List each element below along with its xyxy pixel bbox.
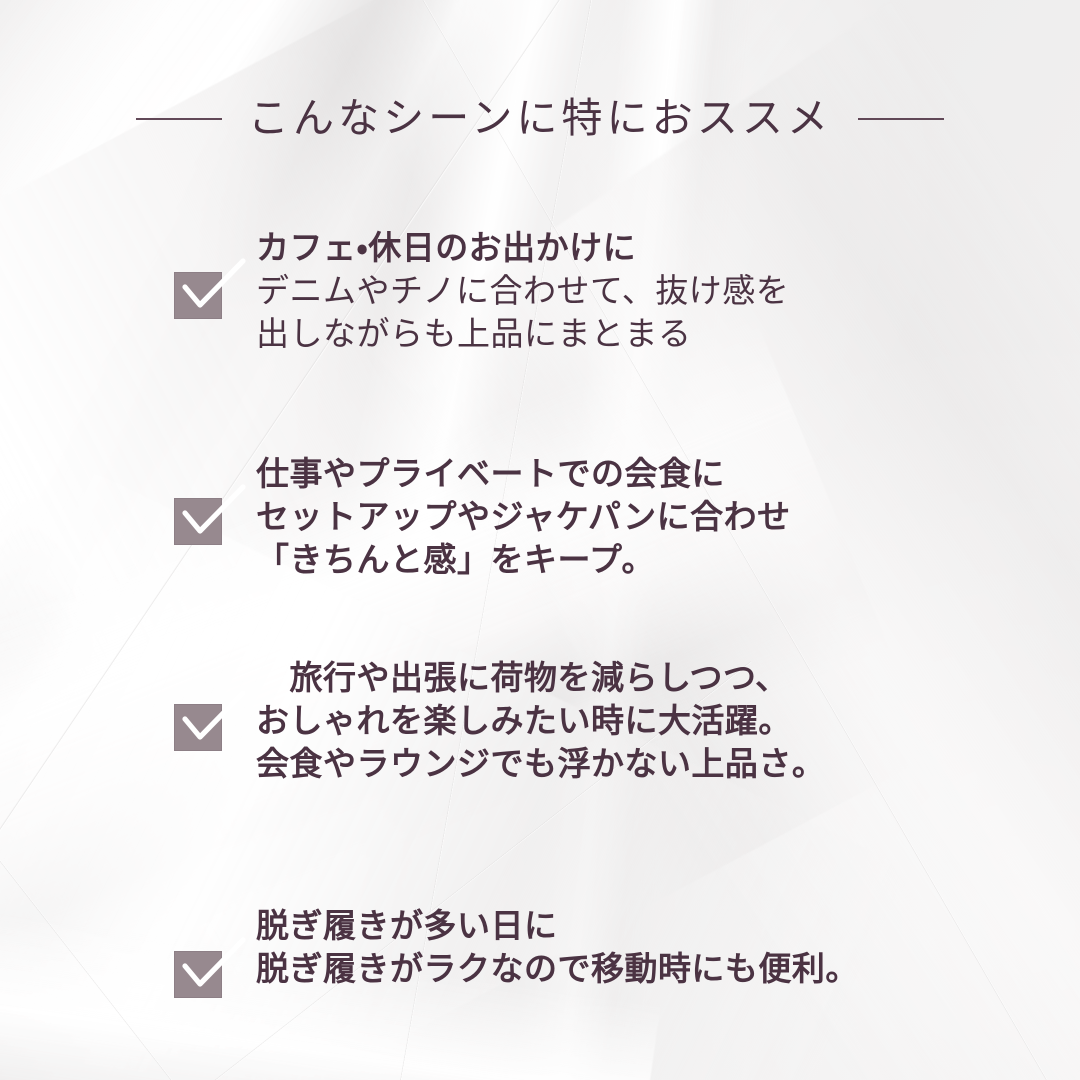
section-header: こんなシーンに特におススメ [0, 96, 1080, 141]
list-item-text: 旅行や出張に荷物を減らしつつ、 おしゃれを楽しみたい時に大活躍。 会食やラウンジ… [256, 658, 825, 787]
list-item-line: デニムやチノに合わせて、抜け感を [256, 271, 789, 314]
list-item-line: セットアップやジャケパンに合わせ [256, 497, 791, 540]
promo-card: こんなシーンに特におススメ カフェ・休日のお出かけに デニムやチノに合わせて、抜… [0, 0, 1080, 1080]
header-rule-right-icon [858, 118, 944, 120]
list-item-line: おしゃれを楽しみたい時に大活躍。 [256, 701, 825, 744]
page-title: こんなシーンに特におススメ [248, 96, 832, 141]
list-item: 仕事やプライベートでの会食に セットアップやジャケパンに合わせ 「きちんと感」を… [174, 454, 791, 583]
list-item-title: 旅行や出張に荷物を減らしつつ、 [256, 658, 825, 701]
list-item-line: 会食やラウンジでも浮かない上品さ。 [256, 744, 825, 787]
list-item: カフェ・休日のお出かけに デニムやチノに合わせて、抜け感を 出しながらも上品にま… [174, 228, 789, 357]
checkbox-checked-icon [174, 498, 222, 545]
list-item-title: カフェ・休日のお出かけに [256, 228, 789, 271]
scene-list: カフェ・休日のお出かけに デニムやチノに合わせて、抜け感を 出しながらも上品にま… [0, 206, 1080, 1046]
header-rule-left-icon [136, 118, 222, 120]
list-item-text: 脱ぎ履きが多い日に 脱ぎ履きがラクなので移動時にも便利。 [256, 906, 859, 992]
list-item-line: 出しながらも上品にまとまる [256, 314, 789, 357]
list-item-text: カフェ・休日のお出かけに デニムやチノに合わせて、抜け感を 出しながらも上品にま… [256, 228, 789, 357]
list-item-line: 脱ぎ履きがラクなので移動時にも便利。 [256, 949, 859, 992]
checkbox-checked-icon [174, 704, 222, 751]
list-item: 脱ぎ履きが多い日に 脱ぎ履きがラクなので移動時にも便利。 [174, 906, 859, 998]
list-item: 旅行や出張に荷物を減らしつつ、 おしゃれを楽しみたい時に大活躍。 会食やラウンジ… [174, 658, 825, 787]
list-item-title: 脱ぎ履きが多い日に [256, 906, 859, 949]
checkbox-checked-icon [174, 272, 222, 319]
checkbox-checked-icon [174, 951, 222, 998]
list-item-title: 仕事やプライベートでの会食に [256, 454, 791, 497]
list-item-text: 仕事やプライベートでの会食に セットアップやジャケパンに合わせ 「きちんと感」を… [256, 454, 791, 583]
list-item-line: 「きちんと感」をキープ。 [256, 540, 791, 583]
